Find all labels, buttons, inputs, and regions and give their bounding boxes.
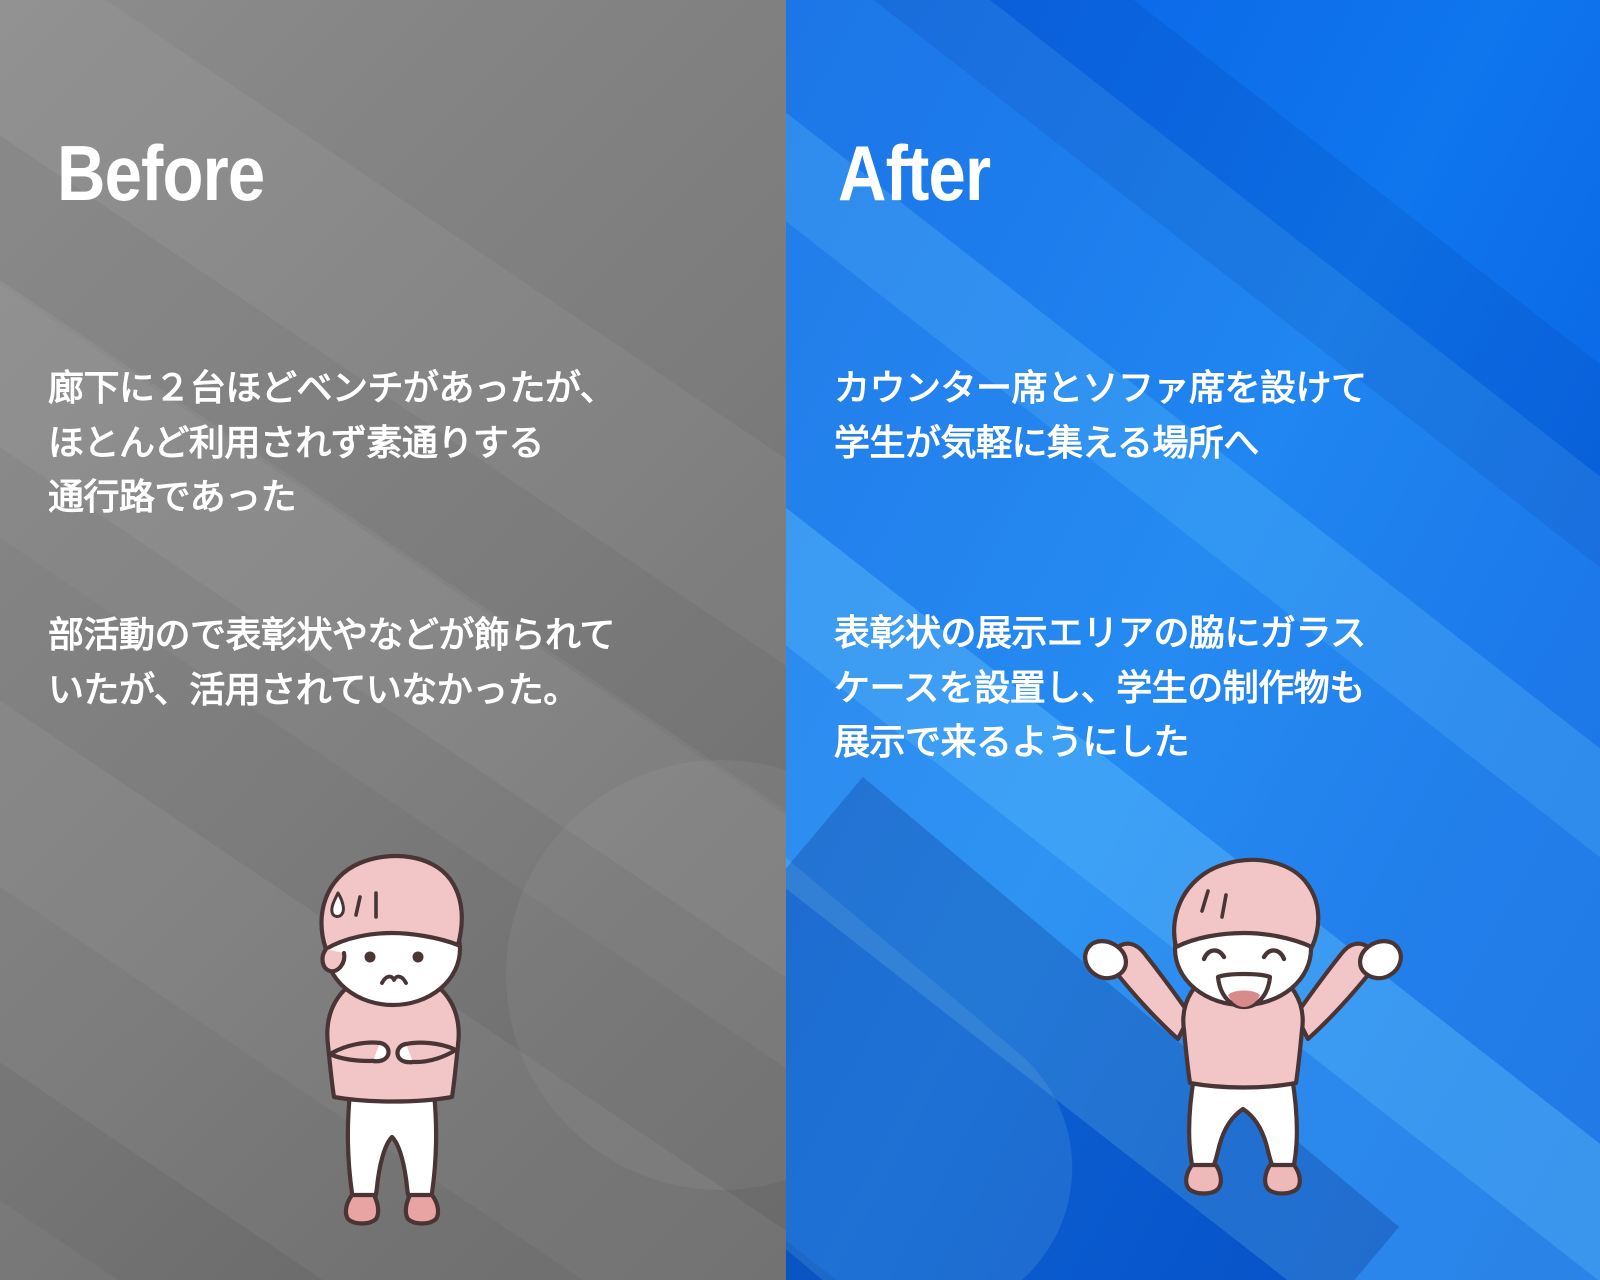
character-arm-right [399, 1043, 454, 1062]
character-eye-right [413, 952, 424, 963]
character-shirt [1183, 967, 1302, 1088]
character-shoe-left [1186, 1165, 1221, 1194]
sad-character-illustration [268, 845, 518, 1235]
before-panel: Before 廊下に２台ほどベンチがあったが、 ほとんど利用されず素通りする 通… [0, 0, 786, 1280]
character-shoe-right [406, 1195, 438, 1224]
after-content: After カウンター席とソファ席を設けて 学生が気軽に集える場所へ 表彰状の展… [786, 0, 1600, 1280]
character-eye-left [365, 952, 376, 963]
character-cap [321, 856, 461, 949]
character-hand-right [397, 1044, 413, 1062]
cap-mark-line-1 [1202, 891, 1208, 911]
character-hand-left [373, 1043, 389, 1061]
before-title: Before [57, 134, 264, 212]
cap-mark-line-1 [356, 897, 360, 915]
after-paragraph-2: 表彰状の展示エリアの脇にガラス ケースを設置し、学生の制作物も 展示で来るように… [834, 606, 1524, 770]
character-face [1175, 893, 1311, 1005]
character-eye-right [1264, 950, 1284, 959]
character-mouth-frown [382, 977, 406, 983]
before-content: Before 廊下に２台ほどベンチがあったが、 ほとんど利用されず素通りする 通… [0, 0, 786, 1280]
character-arm-right [1296, 944, 1374, 1039]
character-cap [1174, 860, 1318, 947]
after-panel: After カウンター席とソファ席を設けて 学生が気軽に集える場所へ 表彰状の展… [786, 0, 1600, 1280]
character-pants [348, 1093, 436, 1207]
after-title: After [838, 134, 990, 212]
character-shoe-right [1265, 1165, 1300, 1194]
before-paragraph-2: 部活動ので表彰状やなどが飾られて いたが、活用されていなかった。 [48, 608, 778, 717]
character-shoe-left [346, 1195, 378, 1224]
character-hand-left [1085, 941, 1126, 978]
before-paragraph-1: 廊下に２台ほどベンチがあったが、 ほとんど利用されず素通りする 通行路であった [48, 361, 768, 525]
cap-mark-line-2 [1222, 895, 1226, 917]
character-mouth-open [1218, 974, 1270, 1007]
happy-character-illustration [1078, 855, 1408, 1205]
character-face [326, 893, 460, 1005]
character-shirt [327, 975, 458, 1102]
character-tongue [1228, 991, 1260, 1008]
after-paragraph-1: カウンター席とソファ席を設けて 学生が気軽に集える場所へ [834, 361, 1534, 470]
sweat-drop-icon [332, 893, 344, 916]
character-pants [1189, 1077, 1297, 1175]
before-after-slide: Before 廊下に２台ほどベンチがあったが、 ほとんど利用されず素通りする 通… [0, 0, 1600, 1280]
character-cap-tail [323, 949, 345, 971]
character-hand-right [1360, 941, 1401, 978]
character-arm-left [1112, 944, 1190, 1039]
character-eye-left [1204, 950, 1224, 959]
character-arm-left [332, 1042, 387, 1061]
